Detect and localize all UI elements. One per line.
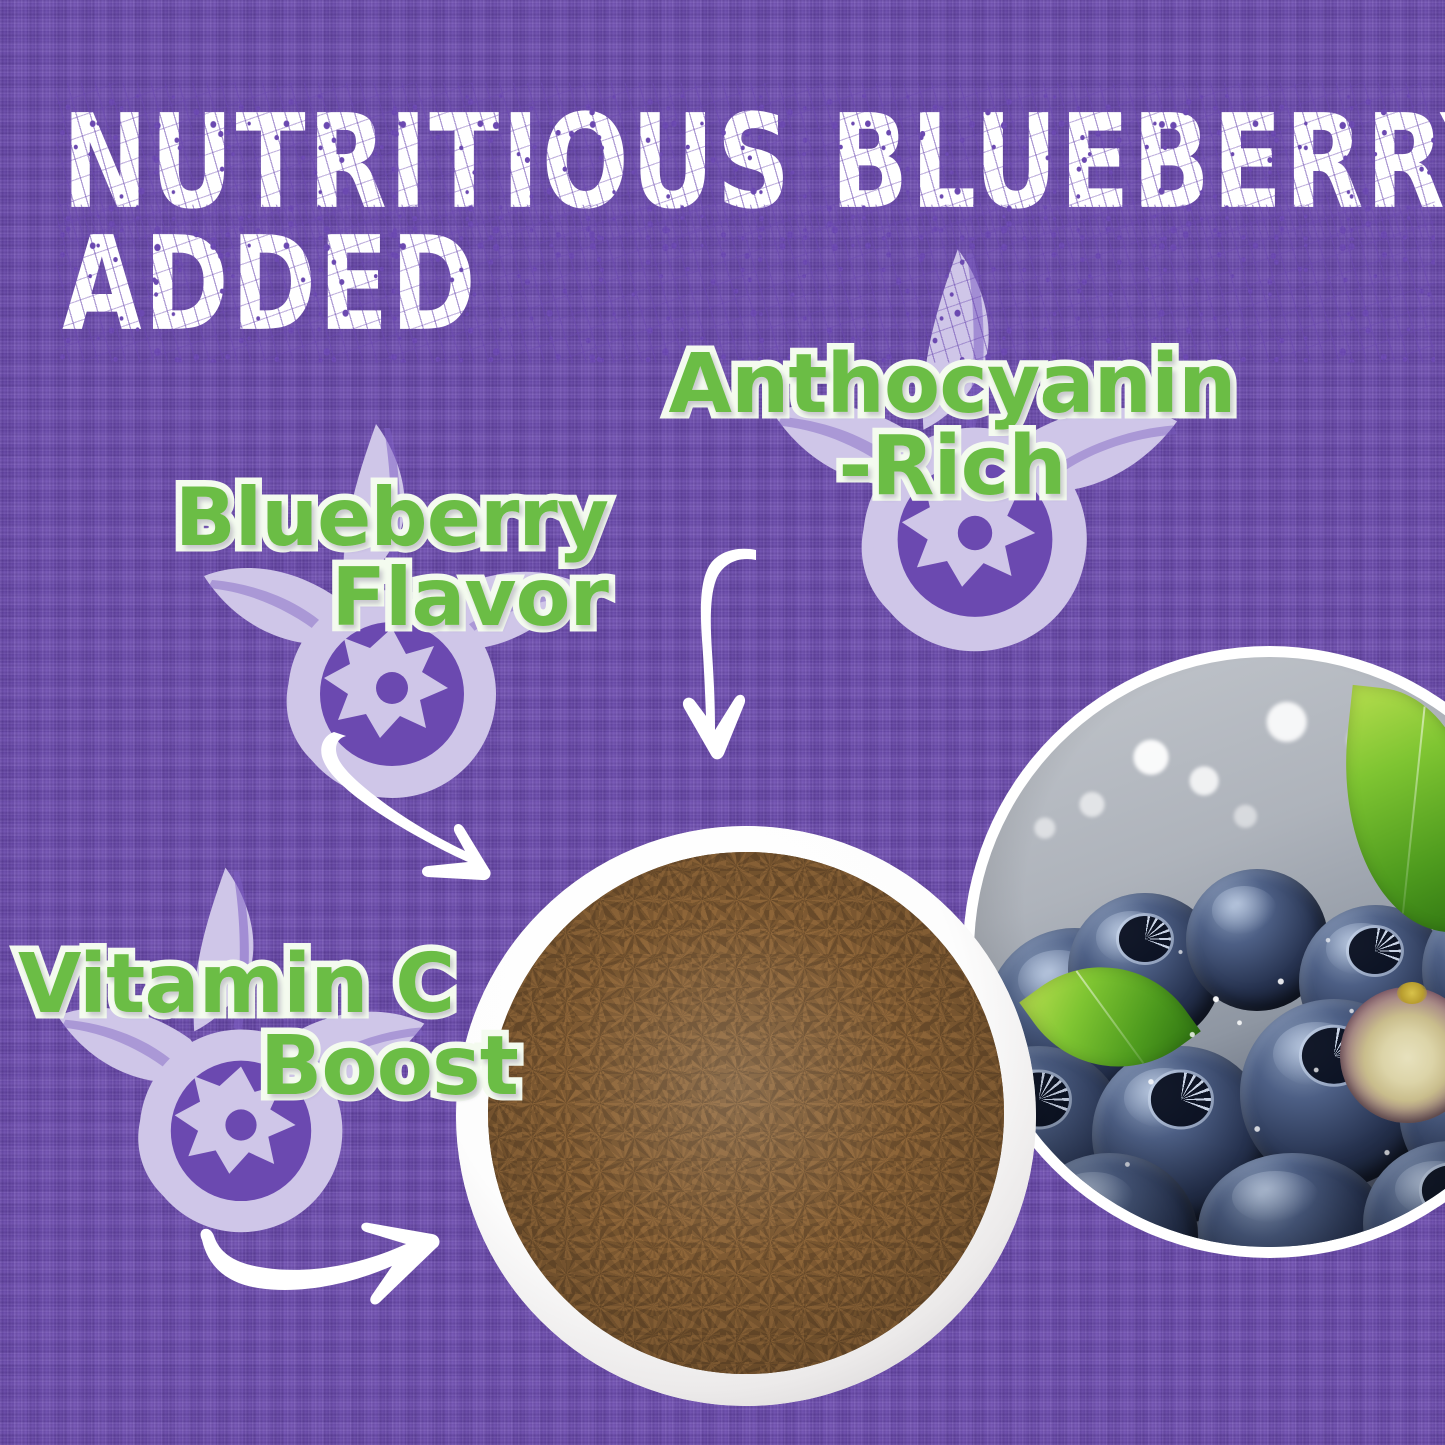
- benefit-blueberry-line-2: Flavor: [78, 558, 608, 638]
- blueberry-photo-circle: [963, 646, 1445, 1258]
- page-title: NUTRITIOUS BLUEBERRY ADDED: [62, 92, 1402, 336]
- arrow-down-right-curved-icon: [316, 724, 506, 884]
- benefit-vitamin-line-2: Boost: [18, 1026, 518, 1108]
- benefit-label-anthocyanin-rich: Anthocyanin -Rich: [612, 344, 1292, 508]
- bowl-interior: [488, 852, 1003, 1374]
- arrow-up-right-curved-icon: [170, 1198, 450, 1328]
- blueberry-photo: [974, 657, 1445, 1247]
- product-infographic-poster: NUTRITIOUS BLUEBERRY ADDED Anthocyanin -…: [0, 0, 1445, 1445]
- benefit-anthocyanin-line-1: Anthocyanin: [612, 344, 1292, 426]
- benefit-label-blueberry-flavor: Blueberry Flavor: [78, 478, 608, 638]
- benefit-label-vitamin-c-boost: Vitamin C Boost: [18, 944, 518, 1108]
- arrow-down-curved-icon: [652, 548, 782, 778]
- bowl-shadow: [488, 852, 1003, 1374]
- headline-line-2: ADDED: [62, 214, 1429, 356]
- benefit-vitamin-line-1: Vitamin C: [18, 944, 518, 1026]
- benefit-blueberry-line-1: Blueberry: [78, 478, 608, 558]
- kibble-bowl: [456, 826, 1036, 1406]
- benefit-anthocyanin-line-2: -Rich: [612, 426, 1292, 508]
